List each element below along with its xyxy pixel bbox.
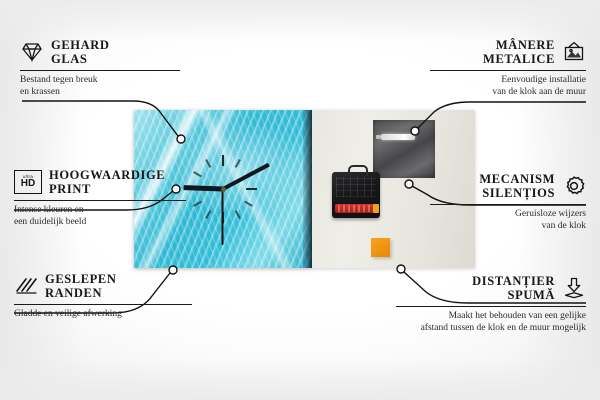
feature-mecanism-silentios: MECANISM SILENȚIOS Geruisloze wijzers va…: [430, 172, 586, 232]
feature-description: Bestand tegen breuk en krassen: [20, 75, 180, 98]
movement-casing-grid: [336, 177, 376, 197]
battery-plus-terminal: [373, 204, 379, 213]
feature-rule: [430, 70, 586, 71]
battery: [335, 204, 375, 213]
feature-header: MÂNERE METALICE: [430, 38, 586, 66]
diamond-icon: [20, 40, 44, 64]
clock-center-hub: [221, 187, 226, 192]
hanger-loop: [348, 165, 368, 176]
feature-rule: [20, 70, 180, 71]
feature-rule: [430, 204, 586, 205]
gear-icon: [562, 174, 586, 198]
feature-title: HOOGWAARDIGE PRINT: [49, 168, 165, 196]
feature-rule: [14, 304, 192, 305]
foam-spacer: [371, 238, 390, 257]
feature-manere-metalice: MÂNERE METALICE Eenvoudige installatie v…: [430, 38, 586, 98]
glass-edge: [303, 110, 312, 268]
feature-header: MECANISM SILENȚIOS: [430, 172, 586, 200]
feature-description: Intense kleuren en een duidelijk beeld: [14, 205, 186, 228]
feature-header: GEHARD GLAS: [20, 38, 180, 66]
ultra-hd-icon: ultra HD: [14, 170, 42, 194]
feature-header: ultra HD HOOGWAARDIGE PRINT: [14, 168, 186, 196]
hanger-slot: [381, 134, 415, 140]
feature-rule: [14, 200, 186, 201]
feature-description: Gladde en veilige afwerking: [14, 309, 192, 321]
diagonal-lines-icon: [14, 274, 38, 298]
feature-description: Eenvoudige installatie van de klok aan d…: [430, 75, 586, 98]
feature-description: Geruisloze wijzers van de klok: [430, 209, 586, 232]
picture-frame-icon: [562, 40, 586, 64]
press-down-icon: [562, 276, 586, 300]
feature-header: GESLEPEN RANDEN: [14, 272, 192, 300]
feature-title: DISTANȚIER SPUMĂ: [472, 274, 555, 302]
feature-rule: [396, 306, 586, 307]
feature-gehard-glas: GEHARD GLAS Bestand tegen breuk en krass…: [20, 38, 180, 98]
metal-hanger-plate: [373, 120, 435, 178]
battery-label: [338, 205, 372, 212]
feature-header: DISTANȚIER SPUMĂ: [396, 274, 586, 302]
feature-distantier-spuma: DISTANȚIER SPUMĂ Maakt het behouden van …: [396, 274, 586, 334]
quartz-movement: [332, 172, 380, 218]
feature-title: GEHARD GLAS: [51, 38, 109, 66]
feature-title: GESLEPEN RANDEN: [45, 272, 117, 300]
feature-description: Maakt het behouden van een gelijke afsta…: [396, 311, 586, 334]
infographic-canvas: GEHARD GLAS Bestand tegen breuk en krass…: [0, 0, 600, 400]
feature-title: MÂNERE METALICE: [483, 38, 555, 66]
feature-hoogwaardige-print: ultra HD HOOGWAARDIGE PRINT Intense kleu…: [14, 168, 186, 228]
feature-geslepen-randen: GESLEPEN RANDEN Gladde en veilige afwerk…: [14, 272, 192, 321]
feature-title: MECANISM SILENȚIOS: [479, 172, 555, 200]
